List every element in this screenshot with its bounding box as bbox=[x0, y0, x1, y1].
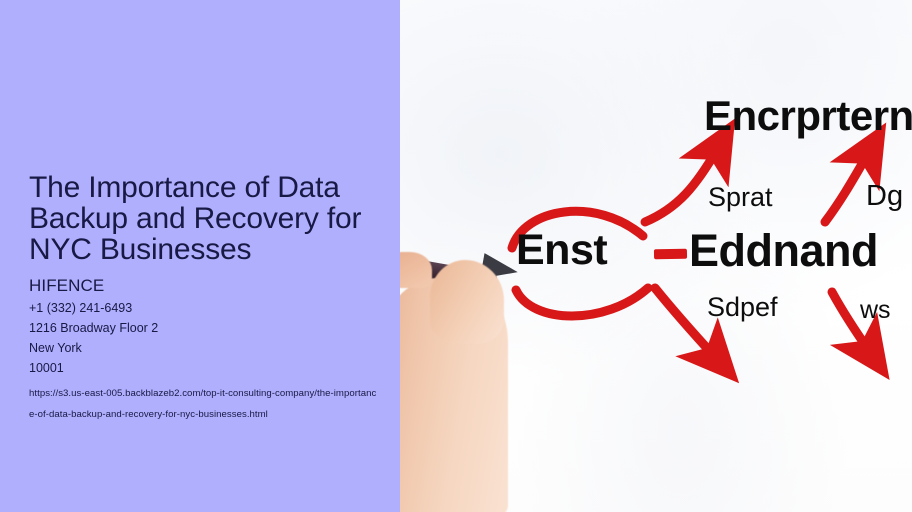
hand-knuckle bbox=[400, 252, 432, 288]
hand-holding-marker bbox=[400, 252, 584, 512]
illustration-panel: Encrprterni Sprat Dg Enst Eddnand Sdpef … bbox=[400, 0, 912, 512]
contact-zip: 10001 bbox=[29, 361, 64, 376]
page-canvas: Encrprterni Sprat Dg Enst Eddnand Sdpef … bbox=[0, 0, 912, 512]
diagram-label-upper-right: Dg bbox=[866, 180, 903, 213]
brand-name: HIFENCE bbox=[29, 276, 104, 296]
diagram-node-center-right: Eddnand bbox=[689, 225, 878, 277]
diagram-label-upper-left: Sprat bbox=[708, 182, 773, 213]
page-title: The Importance of Data Backup and Recove… bbox=[29, 172, 400, 265]
contact-street: 1216 Broadway Floor 2 bbox=[29, 321, 158, 336]
diagram-dash-connector bbox=[654, 249, 687, 260]
contact-phone: +1 (332) 241-6493 bbox=[29, 301, 132, 316]
diagram-node-top: Encrprterni bbox=[704, 92, 912, 140]
hand-thumb bbox=[430, 260, 504, 344]
article-info-panel: The Importance of Data Backup and Recove… bbox=[0, 0, 400, 512]
diagram-label-lower-left: Sdpef bbox=[707, 292, 778, 323]
contact-city: New York bbox=[29, 341, 82, 356]
diagram-label-lower-right: ws bbox=[860, 296, 891, 325]
source-url: https://s3.us-east-005.backblazeb2.com/t… bbox=[29, 383, 377, 425]
